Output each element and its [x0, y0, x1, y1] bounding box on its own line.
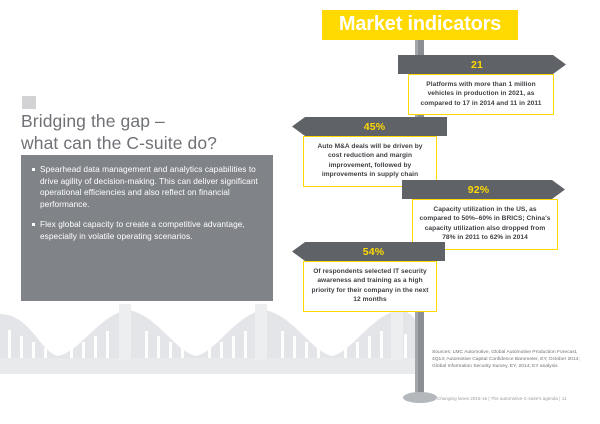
bullet-dot-icon: [32, 223, 35, 226]
sign-21: 21 Platforms with more than 1 million ve…: [398, 55, 566, 115]
title-accent-square: [22, 96, 36, 109]
sign-54: 54% Of respondents selected IT security …: [292, 242, 445, 312]
sign-value: 54%: [363, 246, 385, 258]
slide-canvas: Market indicators Bridging the gap – wha…: [0, 0, 600, 424]
header-banner-title: Market indicators: [322, 13, 518, 36]
recommendations-list: Spearhead data management and analytics …: [21, 155, 273, 243]
sign-arrow-right-icon: 92%: [402, 180, 565, 199]
sign-arrow-left-icon: 54%: [292, 242, 445, 261]
sign-92: 92% Capacity utilization in the US, as c…: [402, 180, 565, 250]
signpost-base: [403, 392, 437, 403]
header-banner: Market indicators: [322, 10, 518, 40]
page-title: Bridging the gap – what can the C-suite …: [21, 110, 291, 154]
list-item-text: Spearhead data management and analytics …: [40, 164, 258, 209]
footer-text: Changing lanes 2015-16 | The automotive …: [437, 396, 567, 401]
sign-arrow-left-icon: 45%: [292, 117, 447, 136]
list-item-text: Flex global capacity to create a competi…: [40, 219, 245, 241]
bullet-dot-icon: [32, 168, 35, 171]
list-item: Spearhead data management and analytics …: [32, 164, 260, 210]
recommendations-panel: Spearhead data management and analytics …: [21, 155, 273, 301]
sign-description: Of respondents selected IT security awar…: [303, 261, 437, 312]
list-item: Flex global capacity to create a competi…: [32, 219, 260, 242]
sign-value: 21: [471, 59, 483, 71]
sign-description: Platforms with more than 1 million vehic…: [408, 74, 554, 115]
sign-45: 45% Auto M&A deals will be driven by cos…: [292, 117, 447, 187]
page-title-line-2: what can the C-suite do?: [21, 132, 291, 154]
sign-arrow-right-icon: 21: [398, 55, 566, 74]
page-title-line-1: Bridging the gap –: [21, 110, 291, 132]
sign-value: 92%: [468, 184, 490, 196]
sources-note: Sources: LMC Automotive, Global Automoti…: [432, 349, 584, 370]
sign-value: 45%: [364, 121, 386, 133]
